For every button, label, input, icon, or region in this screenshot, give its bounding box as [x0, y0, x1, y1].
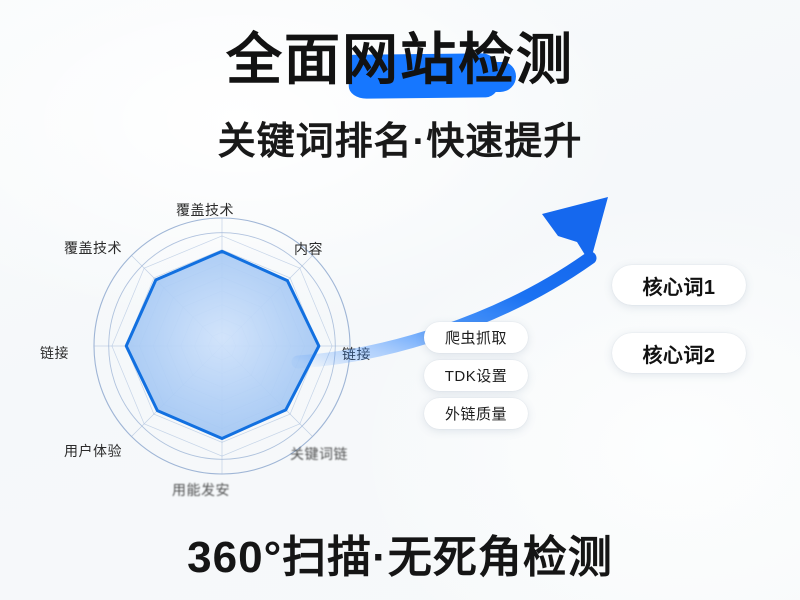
tag-pill-crawl[interactable]: 爬虫抓取 [424, 322, 528, 353]
tag-pill-tdk-label: TDK设置 [445, 365, 508, 386]
radar-axis-label-7: 覆盖技术 [64, 238, 122, 258]
page-title: 全面网站检测 [226, 32, 574, 88]
radar-axis-label-5: 用户体验 [64, 441, 122, 461]
radar-axis-label-4: 用能发安 [172, 480, 230, 500]
title-row: 全面网站检测 [226, 32, 574, 88]
radar-axis-label-3: 关键词链 [290, 444, 348, 464]
page-subtitle: 关键词排名·快速提升 [0, 110, 800, 165]
headline-block: 全面网站检测 关键词排名·快速提升 [0, 32, 800, 165]
keyword-pill-2[interactable]: 核心词2 [612, 333, 746, 373]
keyword-pill-1-label: 核心词1 [642, 271, 715, 300]
keyword-pill-2-label: 核心词2 [642, 339, 715, 368]
tag-pill-tdk[interactable]: TDK设置 [424, 360, 528, 391]
tag-pill-crawl-label: 爬虫抓取 [445, 327, 507, 348]
poster-canvas: 全面网站检测 关键词排名·快速提升 覆盖技术 内容 链接 关键词链 [0, 0, 800, 600]
tag-pill-backlink-label: 外链质量 [445, 403, 507, 424]
radar-axis-label-6: 链接 [40, 343, 69, 363]
page-footer-headline: 360°扫描·无死角检测 [0, 521, 800, 585]
tag-pill-backlink[interactable]: 外链质量 [424, 398, 528, 429]
keyword-pill-1[interactable]: 核心词1 [612, 265, 746, 305]
radar-axis-label-0: 覆盖技术 [176, 200, 234, 220]
